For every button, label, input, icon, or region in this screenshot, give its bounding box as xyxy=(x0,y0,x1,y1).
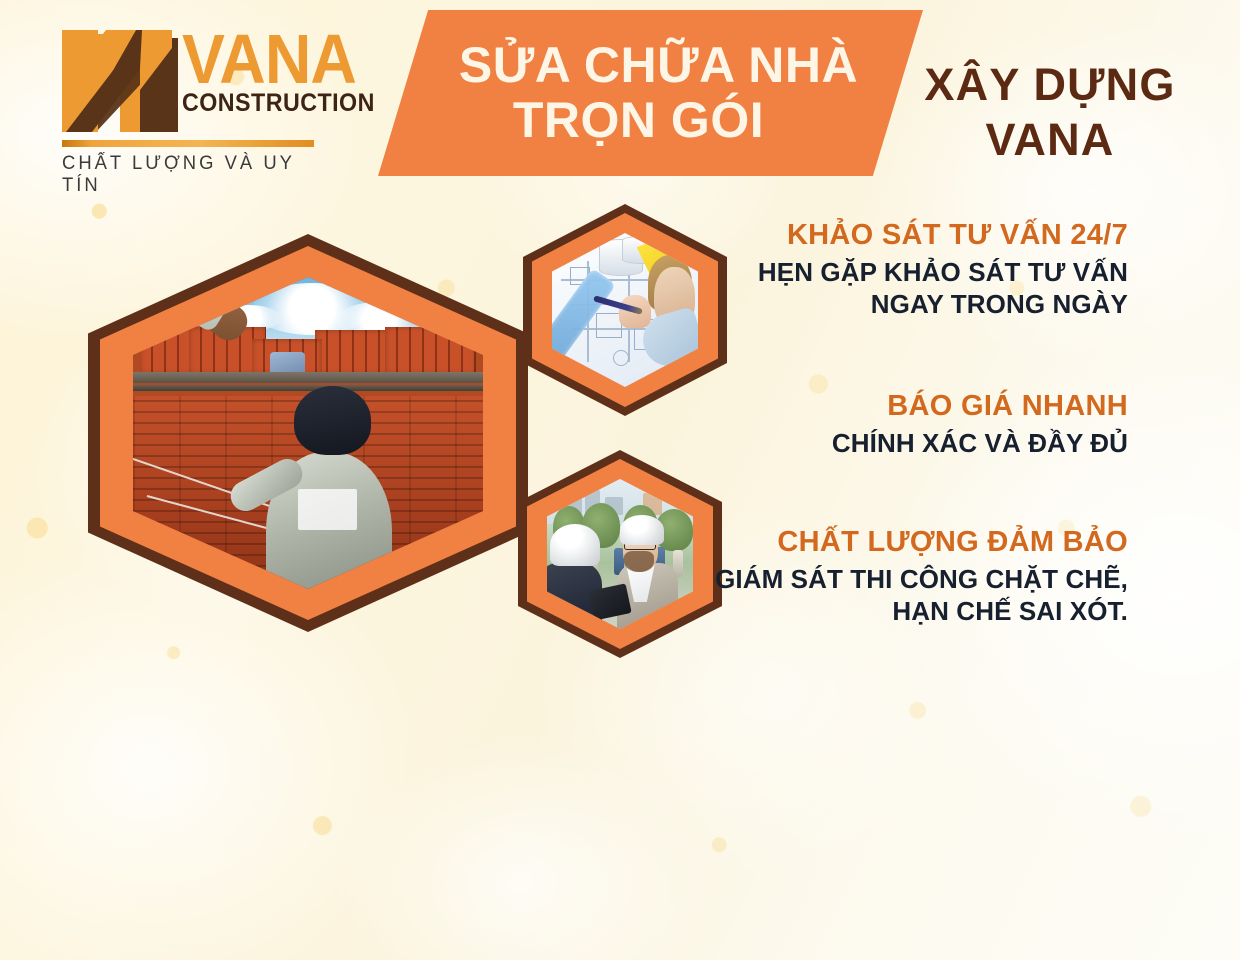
feature-1-line-1: HẸN GẶP KHẢO SÁT TƯ VẤN xyxy=(758,257,1128,289)
feature-fast-quote: BÁO GIÁ NHANH CHÍNH XÁC VÀ ĐẦY ĐỦ xyxy=(832,389,1128,460)
headline-line-2: VANA xyxy=(900,113,1200,168)
feature-quality-guarantee: CHẤT LƯỢNG ĐẢM BẢO GIÁM SÁT THI CÔNG CHẶ… xyxy=(715,525,1128,628)
white-hard-hat xyxy=(550,524,600,566)
feature-1-line-2: NGAY TRONG NGÀY xyxy=(758,289,1128,321)
bricklayer-image xyxy=(133,277,483,589)
white-hard-hat xyxy=(620,515,664,545)
vana-monogram-icon xyxy=(62,28,178,138)
feature-2-line-1: CHÍNH XÁC VÀ ĐẦY ĐỦ xyxy=(832,428,1128,460)
logo-divider-bar xyxy=(62,140,314,147)
engineers-image xyxy=(547,479,693,629)
blueprint-image xyxy=(552,233,698,387)
feature-1-title: KHẢO SÁT TƯ VẤN 24/7 xyxy=(758,218,1128,252)
feature-2-title: BÁO GIÁ NHANH xyxy=(832,389,1128,423)
engineers-photo xyxy=(547,479,693,629)
poster-canvas: VANA CONSTRUCTION CHẤT LƯỢNG VÀ UY TÍN S… xyxy=(0,0,1240,960)
hex-orange-ring xyxy=(100,246,516,620)
bricklayer-photo xyxy=(133,277,483,589)
logo-top-row: VANA CONSTRUCTION xyxy=(62,26,342,138)
logo-subtitle-text: CONSTRUCTION xyxy=(182,89,387,118)
blueprint-photo xyxy=(552,233,698,387)
logo-tagline: CHẤT LƯỢNG VÀ UY TÍN xyxy=(62,153,334,197)
feature-3-line-2: HẠN CHẾ SAI XÓT. xyxy=(715,596,1128,628)
banner-line-1: SỬA CHỮA NHÀ xyxy=(459,38,858,93)
feature-survey-consult: KHẢO SÁT TƯ VẤN 24/7 HẸN GẶP KHẢO SÁT TƯ… xyxy=(758,218,1128,321)
banner-line-2: TRỌN GÓI xyxy=(513,93,764,148)
brand-logo[interactable]: VANA CONSTRUCTION CHẤT LƯỢNG VÀ UY TÍN xyxy=(62,26,342,186)
company-headline: XÂY DỰNG VANA xyxy=(900,58,1200,168)
headline-line-1: XÂY DỰNG xyxy=(900,58,1200,113)
feature-3-line-1: GIÁM SÁT THI CÔNG CHẶT CHẼ, xyxy=(715,564,1128,596)
logo-brand-text: VANA xyxy=(182,26,384,93)
hex-orange-ring xyxy=(527,459,713,649)
logo-wordmark: VANA CONSTRUCTION xyxy=(182,26,402,118)
feature-3-title: CHẤT LƯỢNG ĐẢM BẢO xyxy=(715,525,1128,559)
service-banner: SỬA CHỮA NHÀ TRỌN GÓI xyxy=(378,10,923,176)
hex-orange-ring xyxy=(532,213,718,407)
